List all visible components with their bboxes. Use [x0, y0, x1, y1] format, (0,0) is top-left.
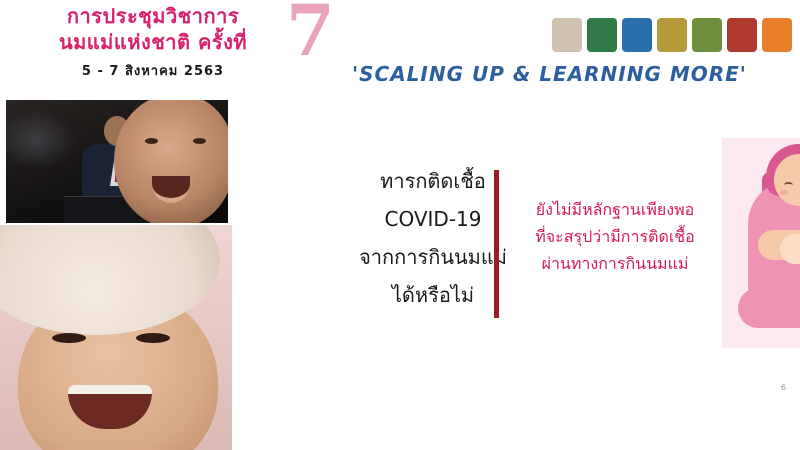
illustration-mother-legs	[738, 288, 800, 328]
slide-root: การประชุมวิชาการ นมแม่แห่งชาติ ครั้งที่ …	[0, 0, 800, 450]
logo-pediatric-society-icon	[622, 18, 652, 52]
answer-line-1: ยังไม่มีหลักฐานเพียงพอ	[508, 196, 722, 223]
question-line-1: ทารกติดเชื้อ	[318, 162, 548, 200]
conference-dates: 5 - 7 สิงหาคม 2563	[18, 60, 288, 81]
overlay-baby-eye-right	[193, 138, 206, 144]
question-line-4: ได้หรือไม่	[318, 276, 548, 314]
conference-title: การประชุมวิชาการ นมแม่แห่งชาติ ครั้งที่ …	[18, 4, 288, 81]
slide-content: ทารกติดเชื้อ COVID-19 จากการกินนมแม่ ได้…	[236, 100, 800, 450]
logo-ministry-public-health-icon	[552, 18, 582, 52]
logo-thai-breastfeeding-centre-icon	[587, 18, 617, 52]
child-eye-left	[52, 333, 86, 343]
answer-text: ยังไม่มีหลักฐานเพียงพอ ที่จะสรุปว่ามีการ…	[508, 196, 722, 277]
illustration-eye-left	[784, 182, 793, 188]
edition-number: 7	[286, 0, 335, 66]
conference-title-line2: นมแม่แห่งชาติ ครั้งที่	[18, 30, 288, 54]
logo-royal-college-icon	[657, 18, 687, 52]
sponsor-logo-strip	[552, 18, 792, 52]
slide-header: การประชุมวิชาการ นมแม่แห่งชาติ ครั้งที่ …	[0, 0, 800, 96]
conference-slogan: 'SCALING UP & LEARNING MORE'	[352, 62, 747, 86]
logo-department-health-icon	[727, 18, 757, 52]
speaker-photo	[6, 100, 228, 223]
speaker-photo-screen-glow	[6, 110, 76, 170]
child-photo	[0, 225, 232, 450]
mother-baby-illustration	[722, 138, 800, 348]
answer-line-3: ผ่านทางการกินนมแม่	[508, 250, 722, 277]
child-eye-right	[136, 333, 170, 343]
logo-nursing-council-icon	[692, 18, 722, 52]
conference-title-line1: การประชุมวิชาการ	[18, 4, 288, 28]
overlay-baby-eye-left	[145, 138, 158, 144]
overlay-baby-face	[114, 100, 228, 223]
page-number: 6	[781, 383, 786, 392]
answer-line-2: ที่จะสรุปว่ามีการติดเชื้อ	[508, 223, 722, 250]
logo-thaihealth-sss-icon	[762, 18, 792, 52]
illustration-cheek-left	[780, 190, 788, 195]
vertical-divider	[494, 170, 499, 318]
overlay-baby-mouth	[152, 176, 190, 203]
